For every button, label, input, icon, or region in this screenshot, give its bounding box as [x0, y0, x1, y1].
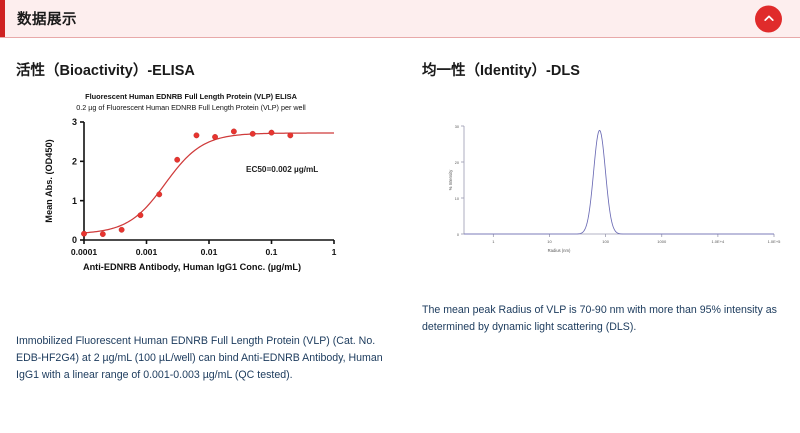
chevron-up-icon: [762, 12, 776, 26]
identity-column: 均一性（Identity）-DLS 010203011010010001.0E+…: [400, 38, 800, 384]
bioactivity-column: 活性（Bioactivity）-ELISA Fluorescent Human …: [0, 38, 400, 384]
page-title: 数据展示: [17, 8, 77, 29]
dls-figure: 010203011010010001.0E+41.0E+5Radius (nm)…: [422, 106, 782, 276]
panel-body: 活性（Bioactivity）-ELISA Fluorescent Human …: [0, 38, 800, 384]
dls-plot-svg: 010203011010010001.0E+41.0E+5Radius (nm)…: [422, 106, 782, 276]
elisa-chart-subtitle: 0.2 µg of Fluorescent Human EDNRB Full L…: [16, 103, 366, 112]
svg-text:3: 3: [72, 117, 77, 127]
svg-text:20: 20: [455, 161, 459, 165]
bioactivity-caption: Immobilized Fluorescent Human EDNRB Full…: [16, 333, 390, 384]
panel-header: 数据展示: [0, 0, 800, 38]
bioactivity-section-title: 活性（Bioactivity）-ELISA: [16, 59, 390, 80]
svg-text:100: 100: [602, 239, 609, 244]
svg-text:10: 10: [455, 197, 459, 201]
svg-text:1: 1: [332, 247, 337, 257]
svg-text:EC50=0.002 µg/mL: EC50=0.002 µg/mL: [246, 165, 318, 174]
svg-text:Mean Abs. (OD450): Mean Abs. (OD450): [44, 140, 54, 223]
identity-section-title: 均一性（Identity）-DLS: [422, 59, 786, 80]
svg-text:0.0001: 0.0001: [71, 247, 98, 257]
svg-text:1.0E+4: 1.0E+4: [711, 239, 725, 244]
svg-text:0.01: 0.01: [201, 247, 218, 257]
svg-text:1.0E+5: 1.0E+5: [768, 239, 782, 244]
identity-caption: The mean peak Radius of VLP is 70-90 nm …: [422, 302, 786, 336]
data-display-panel: 数据展示 活性（Bioactivity）-ELISA Fluorescent H…: [0, 0, 800, 433]
svg-text:Radius (nm): Radius (nm): [548, 248, 571, 253]
svg-text:1: 1: [72, 196, 77, 206]
elisa-figure: Fluorescent Human EDNRB Full Length Prot…: [16, 92, 366, 307]
svg-text:1: 1: [492, 239, 495, 244]
svg-text:10: 10: [547, 239, 552, 244]
svg-text:0: 0: [457, 233, 459, 237]
collapse-panel-button[interactable]: [755, 5, 782, 32]
elisa-plot-area: 01230.00010.0010.010.11EC50=0.002 µg/mLA…: [16, 112, 366, 292]
svg-text:30: 30: [455, 125, 459, 129]
elisa-plot-svg: 01230.00010.0010.010.11EC50=0.002 µg/mLA…: [16, 112, 366, 292]
svg-text:0.1: 0.1: [266, 247, 278, 257]
elisa-chart-title: Fluorescent Human EDNRB Full Length Prot…: [16, 92, 366, 101]
svg-text:Anti-EDNRB Antibody, Human IgG: Anti-EDNRB Antibody, Human IgG1 Conc. (µ…: [83, 262, 301, 272]
svg-text:2: 2: [72, 157, 77, 167]
svg-text:% Intensity: % Intensity: [448, 169, 453, 190]
svg-text:0: 0: [72, 235, 77, 245]
svg-text:1000: 1000: [657, 239, 667, 244]
svg-text:0.001: 0.001: [136, 247, 158, 257]
